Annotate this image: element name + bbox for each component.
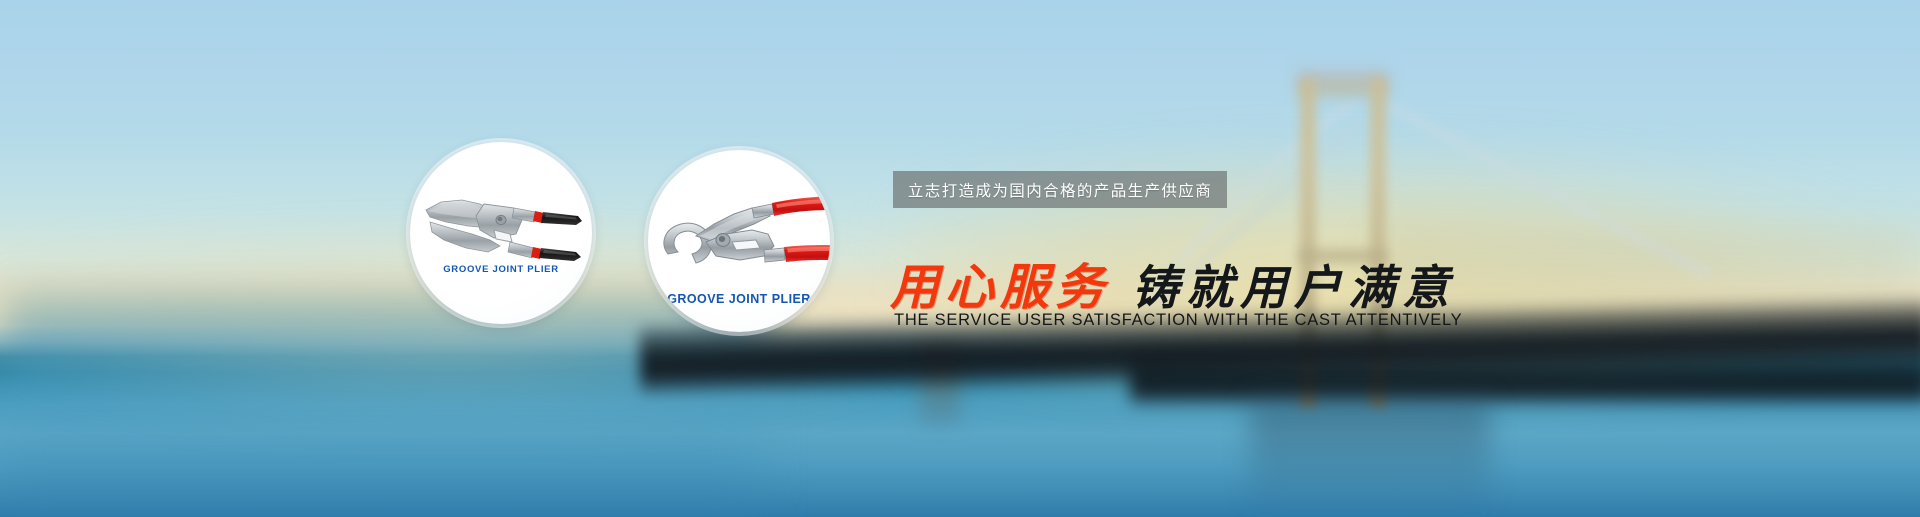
product-circle-2[interactable]: GROOVE JOINT PLIER [648, 150, 830, 332]
headline-red-text: 用心服务 [890, 259, 1110, 316]
tagline-box: 立志打造成为国内合格的产品生产供应商 [893, 171, 1227, 208]
bridge-water-reflection [1250, 400, 1490, 515]
headline: 用心服务铸就用户满意 [890, 248, 1456, 319]
product-label-2: GROOVE JOINT PLIER [648, 292, 830, 306]
groove-joint-plier-black-handle-icon [410, 142, 592, 324]
product-circle-1[interactable]: GROOVE JOINT PLIER [410, 142, 592, 324]
tagline-text: 立志打造成为国内合格的产品生产供应商 [908, 179, 1212, 201]
headline-dark-text: 铸就用户满意 [1132, 261, 1456, 316]
subline-text: THE SERVICE USER SATISFACTION WITH THE C… [894, 311, 1462, 330]
bridge-deck-right [1130, 352, 1920, 408]
product-label-1: GROOVE JOINT PLIER [410, 264, 592, 275]
hero-banner: GROOVE JOINT PLIER [0, 0, 1920, 517]
